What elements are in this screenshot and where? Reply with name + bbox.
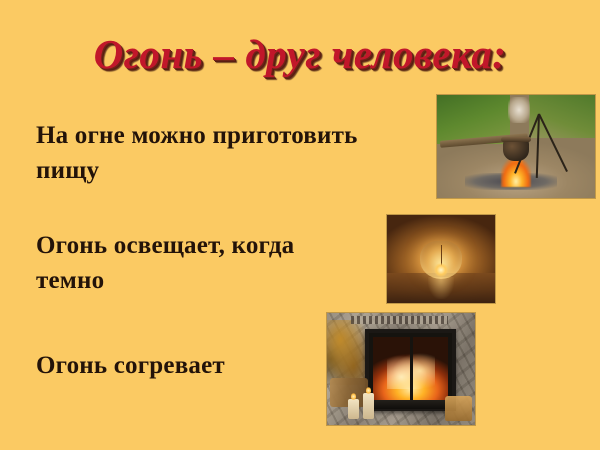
slide: Огонь – друг человека: На огне можно при… [0,0,600,450]
image-campfire-with-cauldron [437,95,595,198]
fireplace-candle-small [348,399,359,419]
image-stone-fireplace-with-fire [327,313,475,425]
page-title: Огонь – друг человека: [0,30,600,78]
fireplace-door-mullion [410,337,413,403]
fireplace-basket [445,396,472,421]
image-glowing-oil-lamp-in-glass [387,215,495,303]
bullet-text-cooking: На огне можно приготовить пищу [36,118,366,188]
fireplace-hearth-base [363,400,455,409]
bullet-text-warmth: Огонь согревает [36,348,366,383]
fireplace-mantel-banner [351,316,449,324]
campfire-cauldron [503,140,529,161]
campfire-smoke [508,97,530,123]
lamp-reflection [428,277,454,299]
bullet-text-light: Огонь освещает, когда темно [36,228,366,298]
fireplace-candle-large [363,393,374,419]
fireplace-glass-doors [365,329,456,411]
